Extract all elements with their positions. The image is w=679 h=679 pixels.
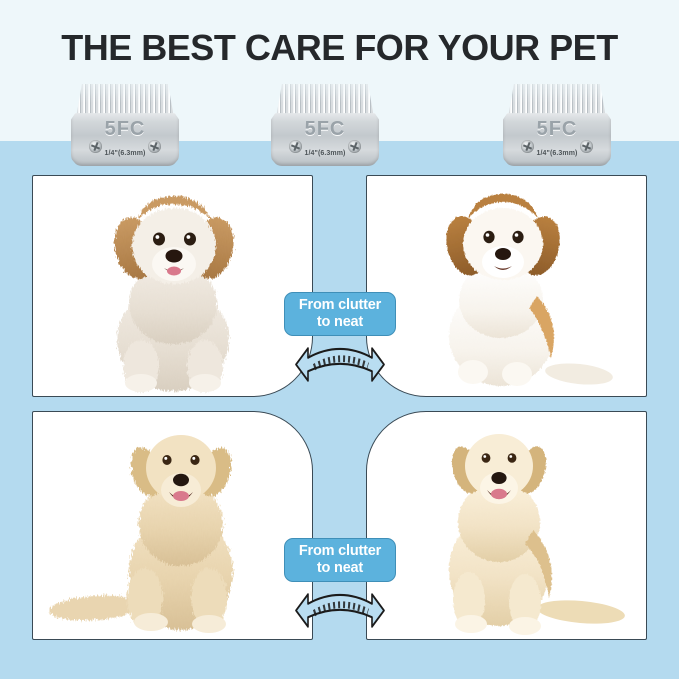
blade-teeth-icon <box>508 84 606 118</box>
clipper-blade-3: 5FC 1/4"(6.3mm) <box>503 84 611 166</box>
callout-line2: to neat <box>317 314 363 330</box>
dog-groomed-golden-retriever-illustration <box>367 412 647 640</box>
photo-panel-top-right <box>366 175 647 397</box>
blade-teeth-icon <box>276 84 374 118</box>
blade-model-label: 5FC <box>71 118 179 141</box>
callout-line1: From clutter <box>299 543 381 559</box>
dog-shaggy-terrier-illustration <box>33 176 313 397</box>
dog-shaggy-golden-retriever-illustration <box>33 412 313 640</box>
page-title: THE BEST CARE FOR YOUR PET <box>0 26 679 70</box>
callout-bottom: From clutter to neat <box>278 538 402 634</box>
blade-model-label: 5FC <box>503 118 611 141</box>
blade-model-label: 5FC <box>271 118 379 141</box>
callout-badge-bottom: From clutter to neat <box>284 538 396 582</box>
blade-teeth-icon <box>76 84 174 118</box>
clipper-blade-2: 5FC 1/4"(6.3mm) <box>271 84 379 166</box>
photo-panel-bottom-right <box>366 411 647 640</box>
callout-line2: to neat <box>317 560 363 576</box>
callout-badge-top: From clutter to neat <box>284 292 396 336</box>
dog-groomed-havanese-illustration <box>367 176 647 397</box>
callout-line1: From clutter <box>299 297 381 313</box>
blade-size-label: 1/4"(6.3mm) <box>503 150 611 157</box>
clipper-blade-1: 5FC 1/4"(6.3mm) <box>71 84 179 166</box>
advertisement-canvas: THE BEST CARE FOR YOUR PET 5FC 1/4"(6.3m… <box>0 0 679 679</box>
photo-panel-bottom-left <box>32 411 313 640</box>
blade-size-label: 1/4"(6.3mm) <box>271 150 379 157</box>
photo-panel-top-left <box>32 175 313 397</box>
blade-size-label: 1/4"(6.3mm) <box>71 150 179 157</box>
callout-top: From clutter to neat <box>278 292 402 388</box>
